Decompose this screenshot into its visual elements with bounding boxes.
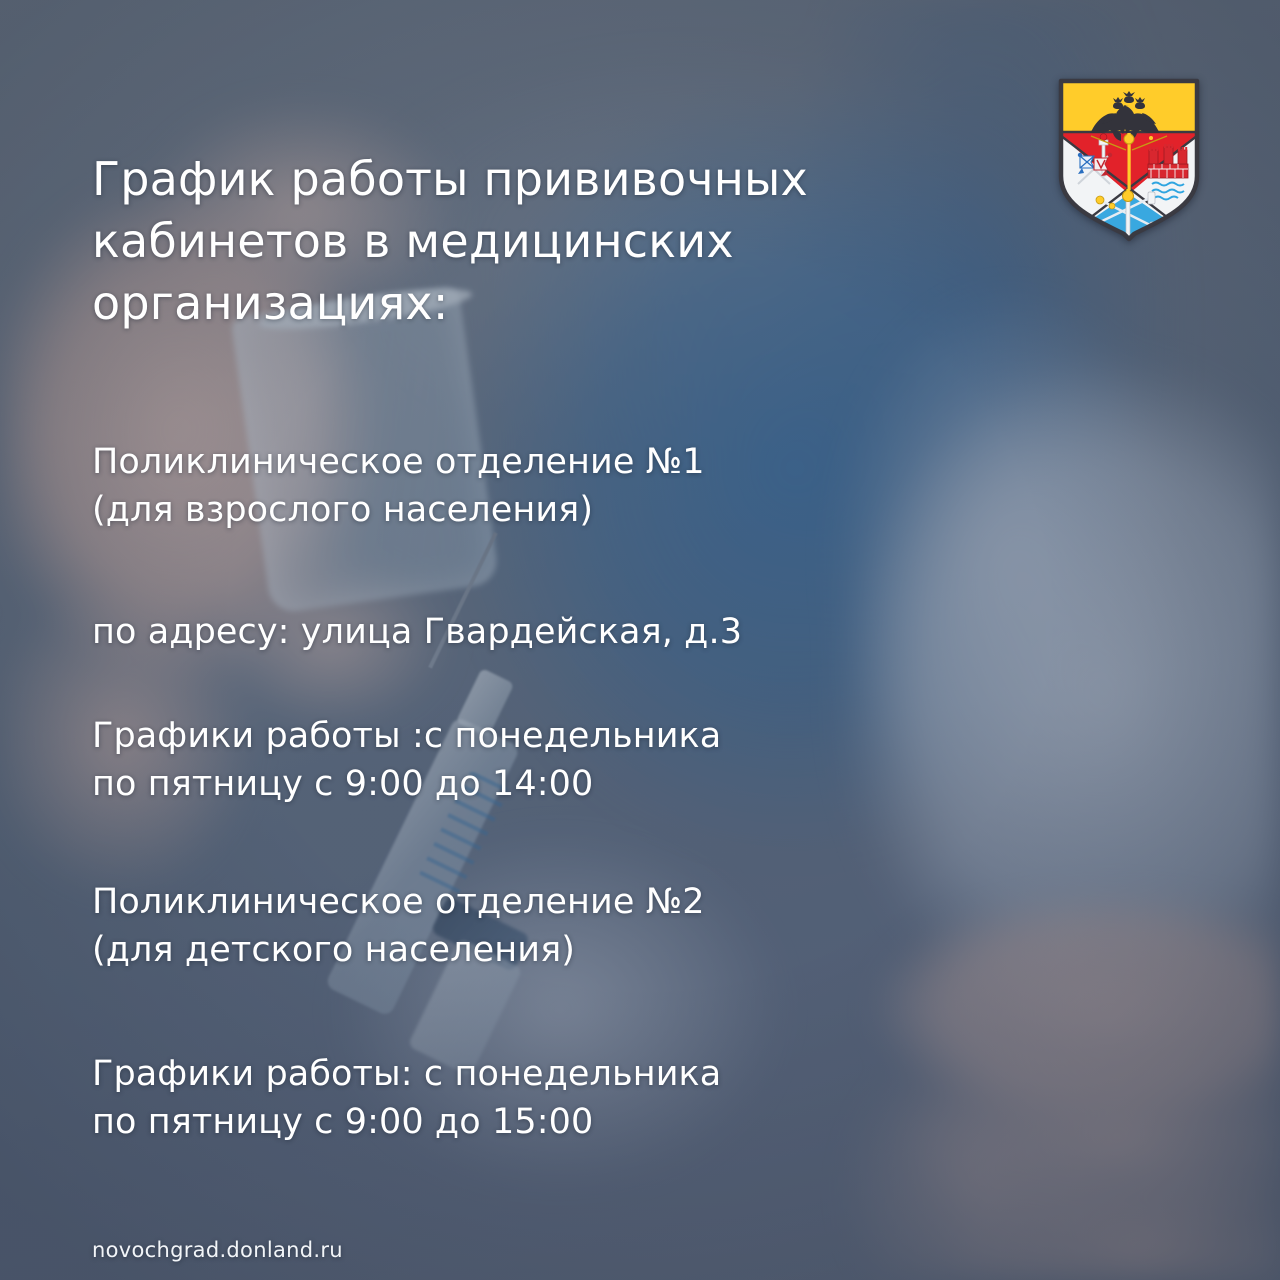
poster-canvas: График работы прививочных кабинетов в ме… — [0, 0, 1280, 1280]
page-title: График работы прививочных кабинетов в ме… — [92, 148, 972, 334]
department-2-heading: Поликлиническое отделение №2 (для детско… — [92, 878, 992, 974]
eagle-spark — [1149, 136, 1153, 140]
department-1-address: по адресу: улица Гвардейская, д.3 — [92, 608, 992, 656]
poster-content: График работы прививочных кабинетов в ме… — [0, 0, 1280, 1280]
department-1-schedule: Графики работы :с понедельника по пятниц… — [92, 712, 992, 808]
department-2-schedule: Графики работы: с понедельника по пятниц… — [92, 1050, 992, 1146]
coat-of-arms-icon — [1056, 76, 1202, 244]
shield-fields — [1056, 76, 1202, 244]
footer-website-url[interactable]: novochgrad.donland.ru — [92, 1236, 343, 1264]
department-1-heading: Поликлиническое отделение №1 (для взросл… — [92, 438, 992, 534]
